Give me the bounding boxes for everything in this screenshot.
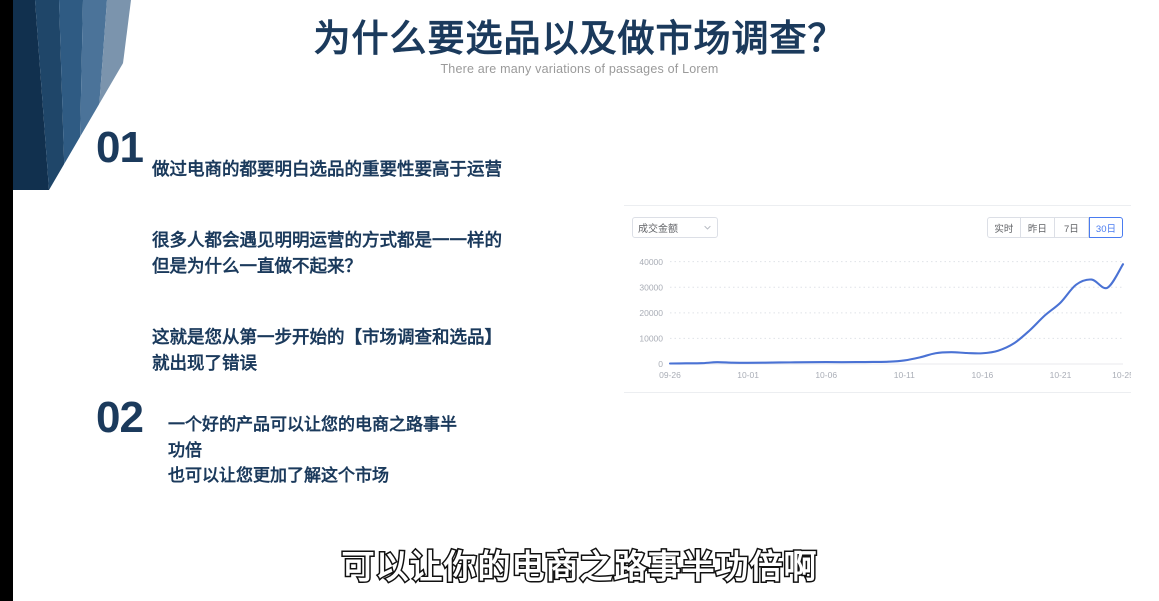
time-range-button-group: 实时 昨日 7日 30日 bbox=[987, 217, 1123, 238]
svg-text:10-16: 10-16 bbox=[972, 370, 994, 380]
svg-text:30000: 30000 bbox=[639, 282, 663, 292]
range-button-yesterday[interactable]: 昨日 bbox=[1021, 217, 1055, 238]
left-rail bbox=[0, 0, 13, 601]
point-number-01: 01 bbox=[96, 126, 143, 170]
point-01-paragraph-2: 很多人都会遇见明明运营的方式都是一一样的 但是为什么一直做不起来？ bbox=[152, 227, 622, 280]
svg-text:10-06: 10-06 bbox=[815, 370, 837, 380]
svg-text:40000: 40000 bbox=[639, 257, 663, 267]
analytics-chart-panel: 成交金额 实时 昨日 7日 30日 0100002000030000400000… bbox=[624, 205, 1131, 393]
svg-text:10-01: 10-01 bbox=[737, 370, 759, 380]
point-01-paragraph-3: 这就是您从第一步开始的【市场调查和选品】 就出现了错误 bbox=[152, 324, 622, 377]
range-button-30days[interactable]: 30日 bbox=[1089, 217, 1123, 238]
range-button-7days[interactable]: 7日 bbox=[1055, 217, 1089, 238]
point-body-01: 做过电商的都要明白选品的重要性要高于运营 很多人都会遇见明明运营的方式都是一一样… bbox=[152, 130, 622, 402]
chevron-down-icon bbox=[703, 223, 712, 232]
slide-root: 为什么要选品以及做市场调查？ There are many variations… bbox=[0, 0, 1159, 601]
line-chart-svg: 01000020000300004000009-2610-0110-0610-1… bbox=[624, 246, 1131, 392]
point-number-02: 02 bbox=[96, 396, 143, 440]
svg-text:20000: 20000 bbox=[639, 308, 663, 318]
point-body-02: 一个好的产品可以让您的电商之路事半 功倍 也可以让您更加了解这个市场 bbox=[168, 386, 638, 515]
svg-text:0: 0 bbox=[658, 359, 663, 369]
range-button-realtime[interactable]: 实时 bbox=[987, 217, 1021, 238]
svg-text:10000: 10000 bbox=[639, 334, 663, 344]
chart-toolbar: 成交金额 实时 昨日 7日 30日 bbox=[624, 206, 1131, 246]
metric-select-value: 成交金额 bbox=[638, 220, 703, 235]
line-chart-plot: 01000020000300004000009-2610-0110-0610-1… bbox=[624, 246, 1131, 392]
svg-text:09-26: 09-26 bbox=[659, 370, 681, 380]
svg-text:10-11: 10-11 bbox=[894, 370, 915, 380]
point-01-paragraph-1: 做过电商的都要明白选品的重要性要高于运营 bbox=[152, 156, 622, 182]
point-02-paragraph-1: 一个好的产品可以让您的电商之路事半 功倍 也可以让您更加了解这个市场 bbox=[168, 412, 638, 489]
video-caption: 可以让你的电商之路事半功倍啊 bbox=[0, 540, 1159, 588]
metric-select[interactable]: 成交金额 bbox=[632, 217, 718, 238]
page-title: 为什么要选品以及做市场调查？ bbox=[0, 18, 1159, 61]
page-subtitle: There are many variations of passages of… bbox=[0, 62, 1159, 76]
svg-text:10-25: 10-25 bbox=[1112, 370, 1131, 380]
svg-text:10-21: 10-21 bbox=[1050, 370, 1072, 380]
